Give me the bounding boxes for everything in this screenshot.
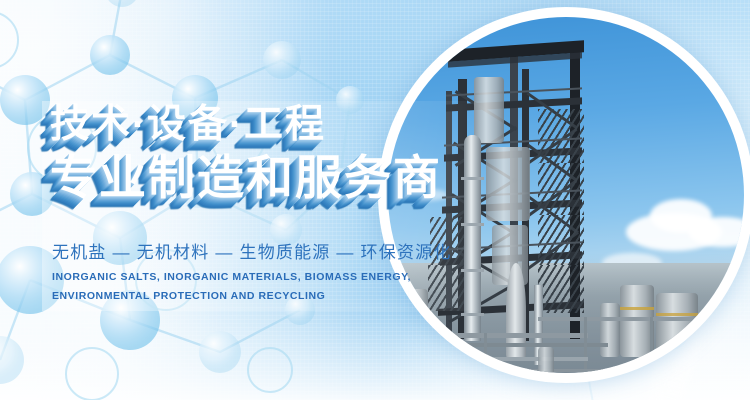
- promo-banner: 技术·设备·工程 专业制造和服务商 无机盐 — 无机材料 — 生物质能源 — 环…: [0, 0, 750, 400]
- headline-line-1: 技术·设备·工程: [50, 104, 480, 145]
- headline-block: 技术·设备·工程 专业制造和服务商: [50, 104, 480, 203]
- storage-tank: [620, 285, 654, 357]
- subtitle-chinese: 无机盐 — 无机材料 — 生物质能源 — 环保资源化: [52, 238, 452, 263]
- column-flange: [461, 223, 484, 226]
- pipe-rack: [538, 317, 744, 321]
- storage-tank: [600, 303, 620, 357]
- tower-stairway: [538, 265, 584, 313]
- tower-stairway: [538, 109, 584, 163]
- interior-vessel: [486, 147, 530, 221]
- column-flange: [461, 269, 484, 272]
- pipe-support: [584, 317, 587, 369]
- storage-tank: [656, 293, 698, 359]
- pipe-rack: [388, 343, 608, 347]
- pipe-support: [418, 333, 421, 373]
- pipe-support: [484, 333, 487, 373]
- tank-band: [620, 307, 654, 310]
- headline-line-2: 专业制造和服务商: [50, 153, 480, 203]
- subtitle-english: INORGANIC SALTS, INORGANIC MATERIALS, BI…: [52, 268, 452, 307]
- foreground-pipe: [428, 357, 588, 361]
- tank-band: [656, 313, 698, 316]
- column-flange: [461, 313, 484, 316]
- tower-stairway: [538, 215, 584, 265]
- foreground-drum: [538, 347, 554, 373]
- pipe-support: [650, 317, 653, 365]
